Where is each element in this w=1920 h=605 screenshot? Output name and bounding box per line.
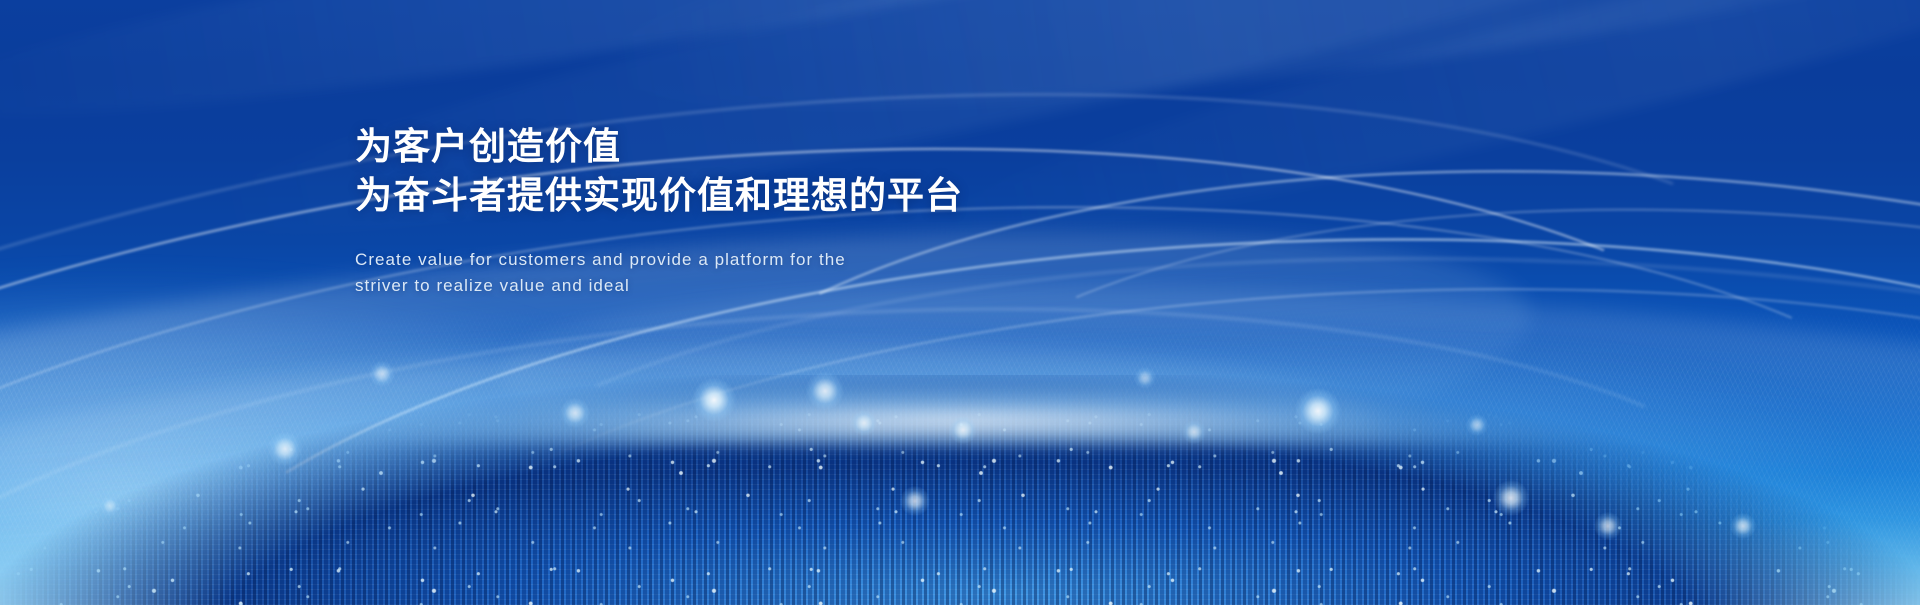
cityscape-horizon-glow (0, 384, 1920, 446)
glow-point-7 (900, 486, 930, 516)
sky-arc-3 (52, 0, 1920, 605)
banner-copy: 为客户创造价值 为奋斗者提供实现价值和理想的平台 Create value fo… (355, 123, 1255, 299)
light-ribbon-6 (0, 246, 1828, 605)
horizon-glow (0, 357, 1920, 557)
glow-point-15 (1134, 367, 1156, 389)
glow-point-16 (100, 496, 120, 516)
banner-subtitle: Create value for customers and provide a… (355, 247, 900, 300)
glow-point-1 (268, 432, 302, 466)
sky-arc-2 (627, 0, 1920, 605)
light-wedge-3 (0, 311, 1388, 605)
headline-line-2: 为奋斗者提供实现价值和理想的平台 (355, 172, 1255, 221)
cityscape-window-lights (0, 375, 1920, 605)
glow-point-14 (1466, 414, 1488, 436)
hero-banner: 为客户创造价值 为奋斗者提供实现价值和理想的平台 Create value fo… (0, 0, 1920, 605)
glow-point-9 (1182, 420, 1206, 444)
cityscape-buildings (0, 375, 1920, 605)
glow-point-8 (949, 416, 977, 444)
left-glow-wash (0, 278, 960, 605)
light-ribbon-5 (334, 254, 1920, 605)
light-ribbon-3 (0, 0, 1920, 605)
glow-point-11 (1493, 480, 1529, 516)
light-ribbon-1 (0, 20, 1896, 605)
page-title: 为客户创造价值 为奋斗者提供实现价值和理想的平台 (355, 123, 1255, 221)
light-ribbons-layer (0, 0, 1920, 605)
glow-point-13 (1730, 513, 1756, 539)
glow-point-6 (851, 410, 877, 436)
glow-point-5 (806, 372, 844, 410)
sky-streaks-layer (0, 0, 1920, 605)
headline-line-1: 为客户创造价值 (355, 123, 1255, 172)
glow-point-10 (1295, 388, 1341, 434)
glow-point-3 (560, 398, 590, 428)
mesh-texture-overlay (0, 303, 1920, 605)
sky-arc-1 (299, 0, 1920, 605)
glow-point-4 (692, 378, 736, 422)
cityscape-image (0, 375, 1920, 605)
cityscape-base (0, 375, 1920, 605)
glow-point-2 (369, 361, 395, 387)
subtitle-line-2: striver to realize value and ideal (355, 273, 900, 299)
glow-point-12 (1594, 512, 1622, 540)
subtitle-line-1: Create value for customers and provide a… (355, 247, 900, 273)
